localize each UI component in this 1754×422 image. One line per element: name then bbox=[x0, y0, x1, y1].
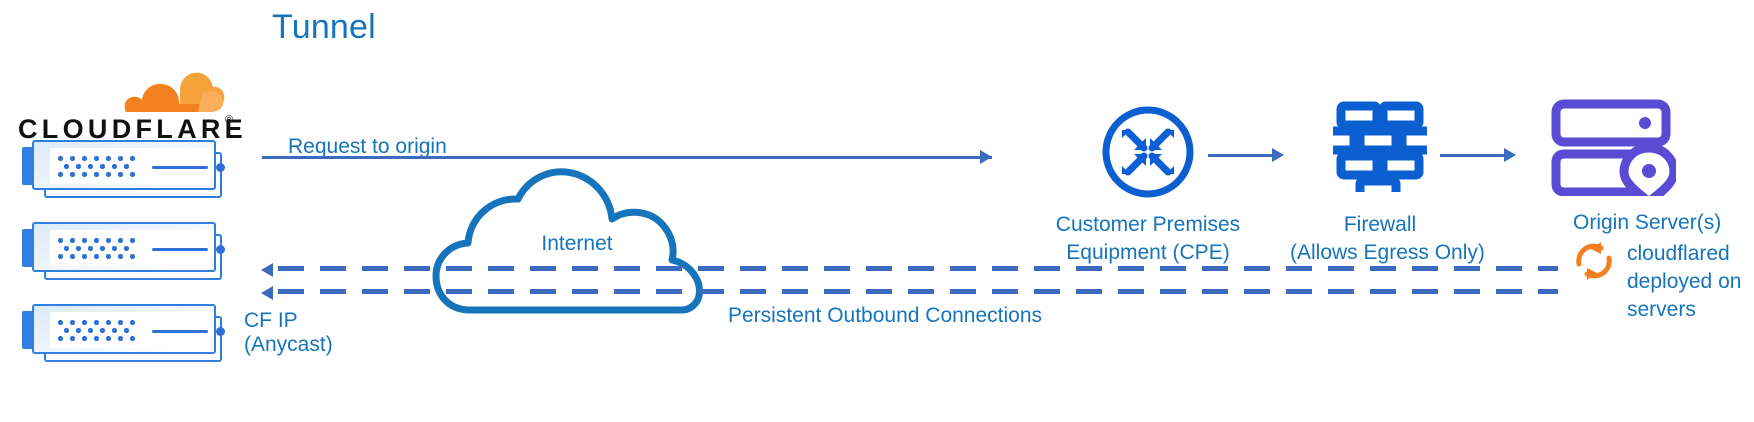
cloudflare-server-1 bbox=[22, 140, 226, 202]
cloudflare-logo: CLOUDFLARE ® bbox=[18, 72, 233, 144]
firewall-label-line1: Firewall bbox=[1290, 211, 1470, 239]
server-led bbox=[216, 327, 225, 336]
cf-ip-label-line2: (Anycast) bbox=[244, 331, 333, 359]
firewall-to-origin-line bbox=[1440, 154, 1508, 157]
server-body bbox=[32, 304, 216, 354]
cloudflared-line2: deployed on bbox=[1627, 268, 1741, 296]
persistent-connection-arrowhead-1 bbox=[261, 263, 273, 277]
cloudflare-server-3 bbox=[22, 304, 226, 366]
origin-server-label: Origin Server(s) bbox=[1573, 209, 1721, 237]
firewall-icon-wrap bbox=[1333, 98, 1427, 197]
server-status-bar bbox=[152, 248, 208, 251]
cloudflare-server-2 bbox=[22, 222, 226, 284]
registered-trademark-mark: ® bbox=[225, 114, 233, 126]
persistent-connection-line-2 bbox=[278, 289, 1558, 294]
firewall-label-line2: (Allows Egress Only) bbox=[1290, 239, 1470, 267]
firewall-to-origin-arrowhead bbox=[1504, 148, 1516, 162]
persistent-outbound-connections-label: Persistent Outbound Connections bbox=[728, 302, 1042, 330]
server-status-bar bbox=[152, 330, 208, 333]
persistent-connection-arrowhead-2 bbox=[261, 286, 273, 300]
cloudflared-line3: servers bbox=[1627, 296, 1696, 324]
diagram-title: Tunnel bbox=[272, 8, 376, 47]
brick-wall-icon bbox=[1333, 98, 1427, 192]
server-stack-location-pin-icon bbox=[1550, 98, 1676, 196]
cpe-icon-wrap bbox=[1100, 104, 1196, 205]
server-body bbox=[32, 222, 216, 272]
router-four-arrows-icon bbox=[1100, 104, 1196, 200]
internet-label: Internet bbox=[432, 230, 722, 258]
cpe-label-line1: Customer Premises bbox=[1000, 211, 1296, 239]
server-led bbox=[216, 245, 225, 254]
request-to-origin-arrowhead bbox=[980, 150, 992, 164]
server-led bbox=[216, 163, 225, 172]
circular-arrows-sync-icon bbox=[1571, 238, 1617, 284]
cloudflared-icon-wrap bbox=[1571, 238, 1617, 289]
cpe-to-firewall-arrowhead bbox=[1272, 148, 1284, 162]
cloudflared-line1: cloudflared bbox=[1627, 240, 1730, 268]
server-body bbox=[32, 140, 216, 190]
cloudflare-cloud-icon bbox=[110, 68, 230, 114]
origin-server-icon-wrap bbox=[1550, 98, 1676, 201]
server-status-bar bbox=[152, 166, 208, 169]
cpe-to-firewall-line bbox=[1208, 154, 1276, 157]
cpe-label-line2: Equipment (CPE) bbox=[1000, 239, 1296, 267]
tunnel-architecture-diagram: Tunnel CLOUDFLARE ® bbox=[0, 0, 1754, 422]
persistent-connection-line-1 bbox=[278, 266, 1558, 271]
